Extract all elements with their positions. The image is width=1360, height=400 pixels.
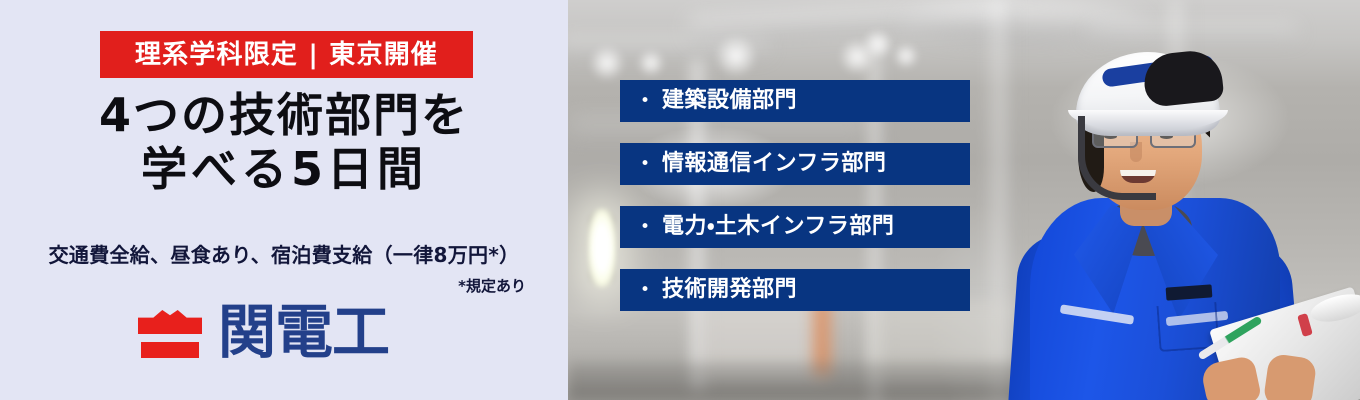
department-list: • 建築設備部門 • 情報通信インフラ部門 • 電力・土木インフラ部門 • 技術…: [620, 80, 970, 311]
worker-left-hand: [1263, 353, 1318, 400]
bullet-icon: •: [640, 282, 650, 299]
bullet-icon: •: [640, 156, 650, 173]
eligibility-badge: 理系学科限定 | 東京開催: [100, 31, 473, 78]
bokeh-highlight: [716, 36, 756, 76]
company-logo: 関電工: [138, 300, 389, 364]
bullet-icon: •: [640, 93, 650, 110]
department-label: 情報通信インフラ部門: [662, 153, 886, 175]
headline-line-1: 4つの技術部門を: [0, 88, 568, 142]
conditions-note: *規定あり: [458, 279, 526, 294]
company-name: 関電工: [218, 303, 389, 361]
left-info-panel: 理系学科限定 | 東京開催 4つの技術部門を 学べる5日間 交通費全給、昼食あり…: [0, 0, 568, 400]
headline: 4つの技術部門を 学べる5日間: [0, 88, 568, 196]
bokeh-highlight: [638, 50, 664, 76]
recruitment-banner: 理系学科限定 | 東京開催 4つの技術部門を 学べる5日間 交通費全給、昼食あり…: [0, 0, 1360, 400]
department-item-1: • 建築設備部門: [620, 80, 970, 122]
logo-mark-peak: [138, 310, 202, 334]
kandenko-logo-mark-icon: [138, 304, 202, 360]
headline-line-2: 学べる5日間: [0, 142, 568, 196]
photo-panel: • 建築設備部門 • 情報通信インフラ部門 • 電力・土木インフラ部門 • 技術…: [568, 0, 1360, 400]
department-item-3: • 電力・土木インフラ部門: [620, 206, 970, 248]
fluorescent-light-fixture: [588, 208, 616, 288]
benefits-text: 交通費全給、昼食あり、宿泊費支給（一律8万円*）: [0, 243, 568, 267]
department-label: 電力・土木インフラ部門: [662, 216, 894, 238]
bokeh-highlight: [590, 46, 624, 80]
department-item-2: • 情報通信インフラ部門: [620, 143, 970, 185]
department-label: 建築設備部門: [662, 90, 797, 112]
department-label: 技術開発部門: [662, 279, 797, 301]
bullet-icon: •: [640, 219, 650, 236]
bokeh-highlight: [864, 30, 892, 58]
logo-mark-bar: [141, 342, 199, 358]
eligibility-badge-text: 理系学科限定 | 東京開催: [135, 42, 438, 68]
department-item-4: • 技術開発部門: [620, 269, 970, 311]
engineer-photo-subject: [1008, 38, 1360, 400]
bokeh-highlight: [894, 44, 918, 68]
